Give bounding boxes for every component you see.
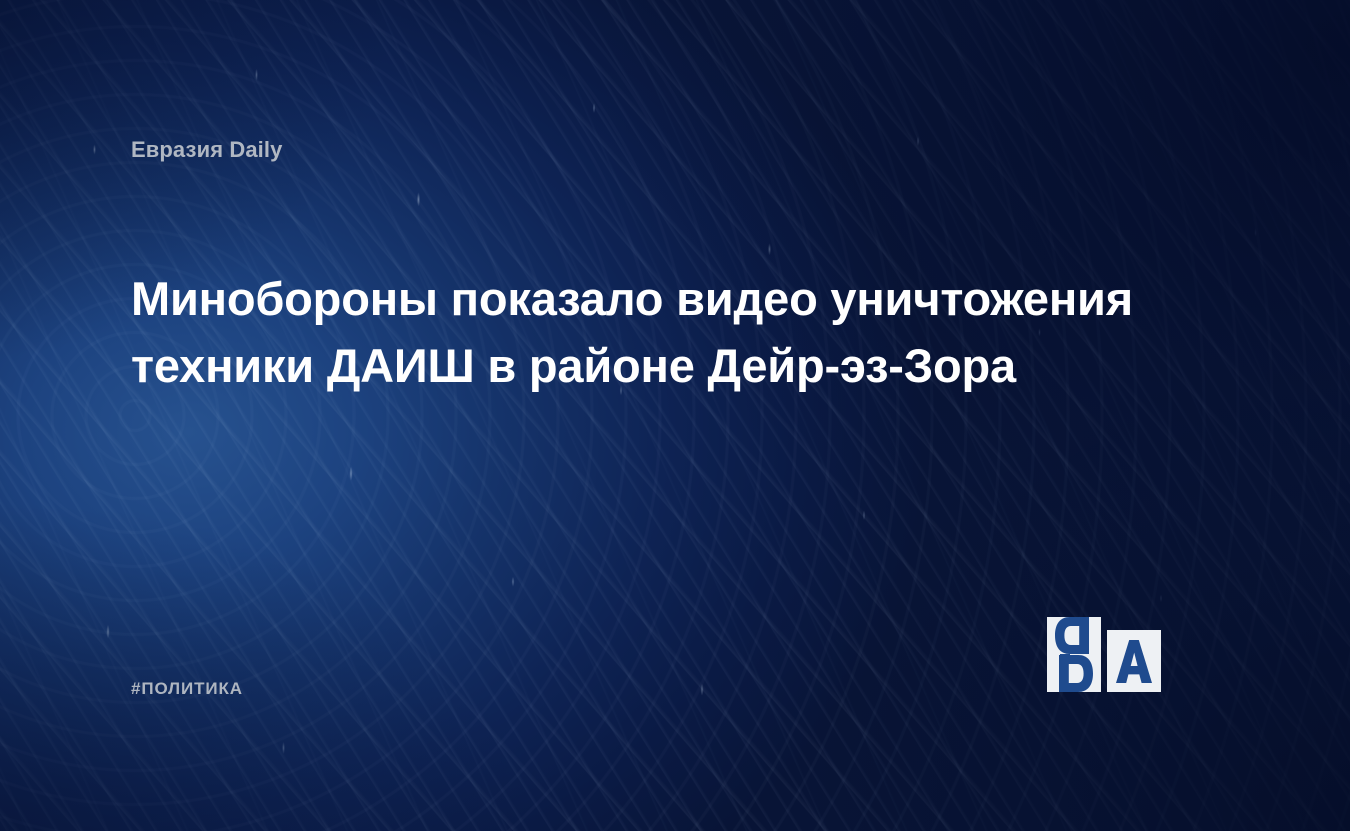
logo-cell-d-bottom — [1047, 655, 1101, 692]
letter-d-upper-icon — [1047, 617, 1101, 654]
letter-a-icon — [1107, 630, 1161, 692]
headline: Минобороны показало видео уничтожения те… — [131, 265, 1201, 399]
logo-tile-a — [1107, 630, 1161, 692]
card-content: Евразия Daily Минобороны показало видео … — [0, 0, 1350, 831]
site-name: Евразия Daily — [131, 137, 282, 163]
logo-tile-d — [1167, 630, 1221, 705]
logo-cell-d-top — [1047, 617, 1101, 654]
category-tag[interactable]: #ПОЛИТИКА — [131, 679, 243, 699]
news-card: Евразия Daily Минобороны показало видео … — [0, 0, 1350, 831]
eadaily-logo[interactable] — [1047, 630, 1225, 705]
letter-d-lower-icon — [1047, 655, 1101, 692]
